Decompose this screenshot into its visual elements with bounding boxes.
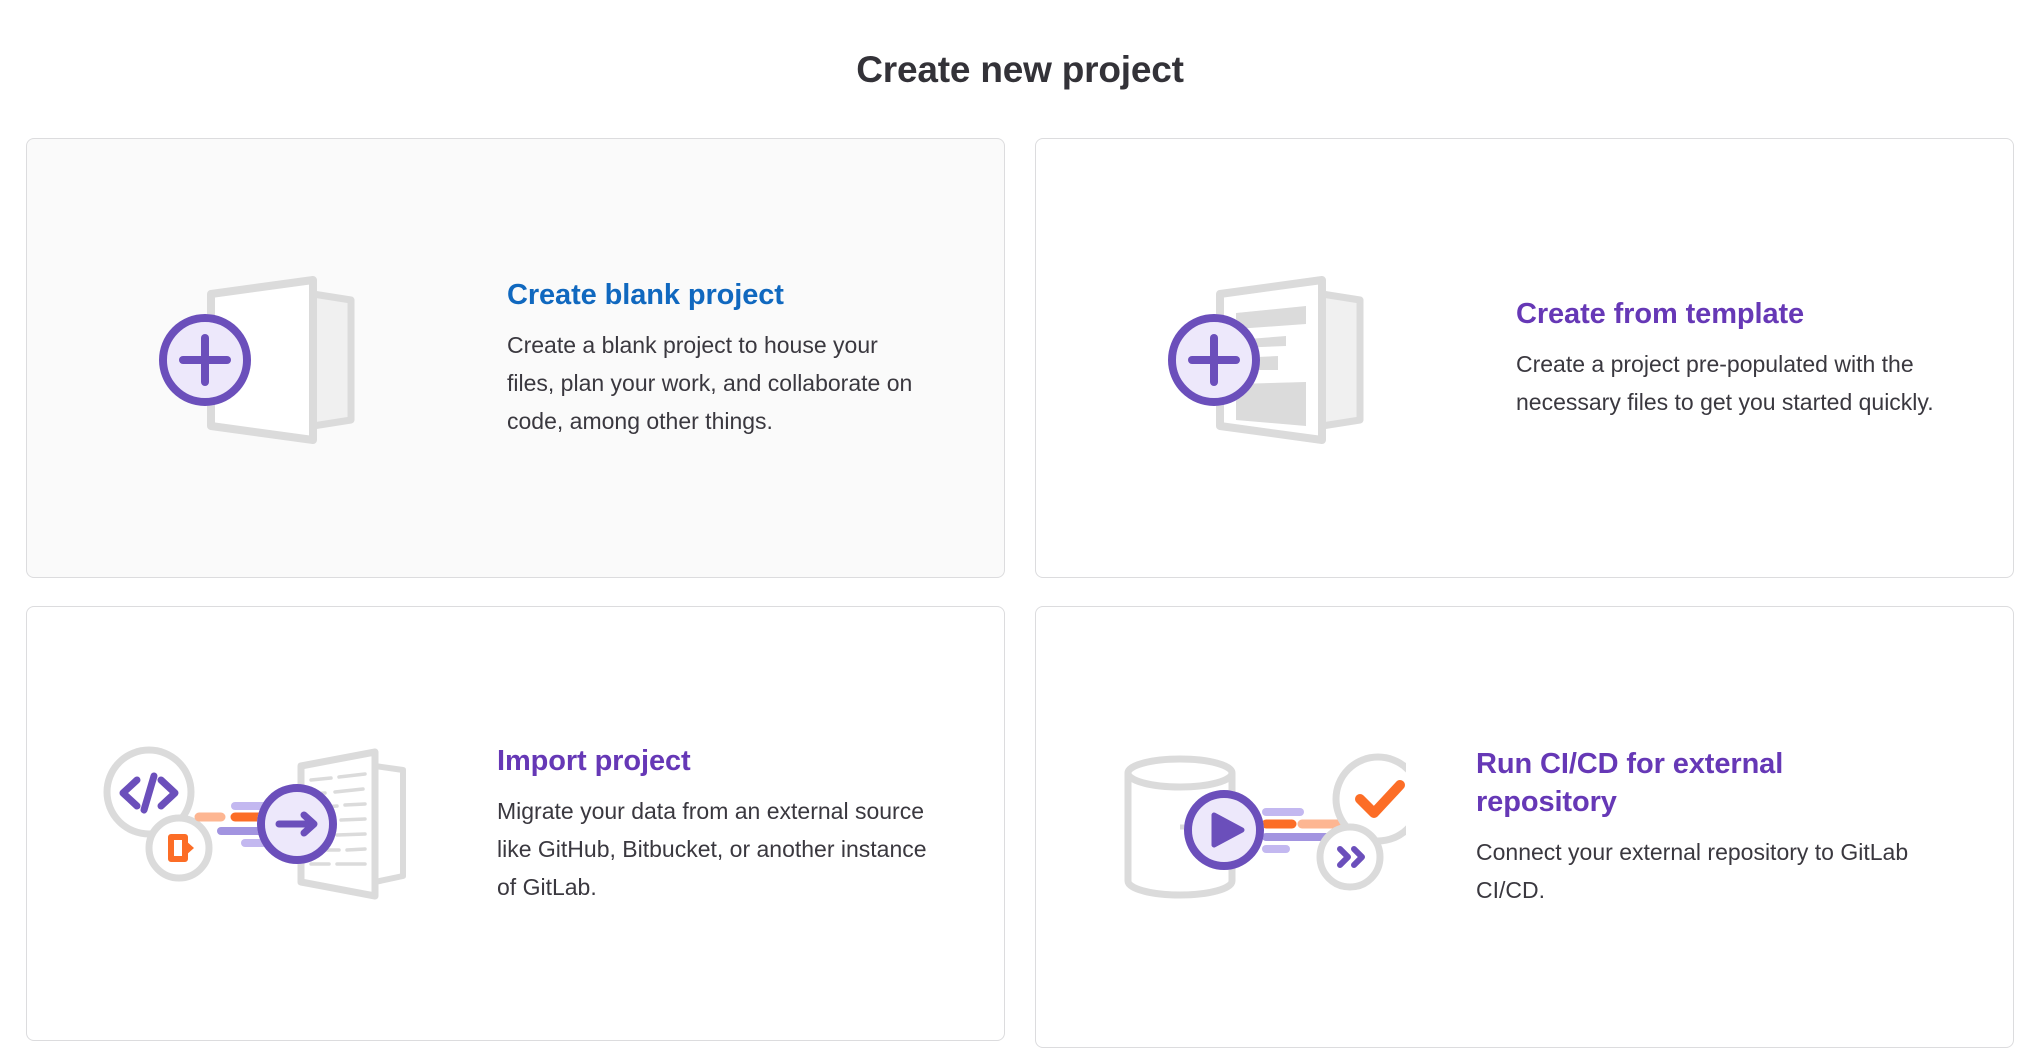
- card-description-import-project: Migrate your data from an external sourc…: [497, 780, 927, 906]
- card-text-run-cicd-external-repository: Run CI/CD for external repository Connec…: [1476, 745, 1956, 909]
- template-project-icon: [1146, 258, 1406, 458]
- card-create-blank-project[interactable]: Create blank project Create a blank proj…: [26, 138, 1005, 578]
- card-heading-create-blank-project: Create blank project: [507, 276, 927, 314]
- card-row-1: Create blank project Create a blank proj…: [26, 138, 2014, 578]
- template-project-illustration: [1036, 258, 1516, 458]
- blank-project-illustration: [27, 258, 507, 458]
- import-project-illustration: [27, 724, 497, 924]
- card-text-import-project: Import project Migrate your data from an…: [497, 742, 967, 906]
- import-project-icon: [97, 724, 427, 924]
- card-description-create-blank-project: Create a blank project to house your fil…: [507, 314, 927, 440]
- card-description-create-from-template: Create a project pre-populated with the …: [1516, 333, 1946, 421]
- card-import-project[interactable]: Import project Migrate your data from an…: [26, 606, 1005, 1041]
- create-new-project-page: Create new project: [0, 0, 2040, 1059]
- card-description-run-cicd-external-repository: Connect your external repository to GitL…: [1476, 821, 1916, 909]
- card-create-from-template[interactable]: Create from template Create a project pr…: [1035, 138, 2014, 578]
- card-heading-import-project: Import project: [497, 742, 927, 780]
- card-text-create-blank-project: Create blank project Create a blank proj…: [507, 276, 967, 440]
- card-text-create-from-template: Create from template Create a project pr…: [1516, 295, 1986, 421]
- cicd-external-repo-illustration: [1036, 727, 1476, 927]
- cicd-external-repo-icon: [1106, 727, 1406, 927]
- card-row-2: Import project Migrate your data from an…: [26, 606, 2014, 1048]
- project-option-cards-grid: Create blank project Create a blank proj…: [26, 138, 2014, 1048]
- blank-project-icon: [137, 258, 397, 458]
- page-title: Create new project: [0, 47, 2040, 93]
- card-heading-run-cicd-external-repository: Run CI/CD for external repository: [1476, 745, 1916, 821]
- card-run-cicd-external-repository[interactable]: Run CI/CD for external repository Connec…: [1035, 606, 2014, 1048]
- card-heading-create-from-template: Create from template: [1516, 295, 1946, 333]
